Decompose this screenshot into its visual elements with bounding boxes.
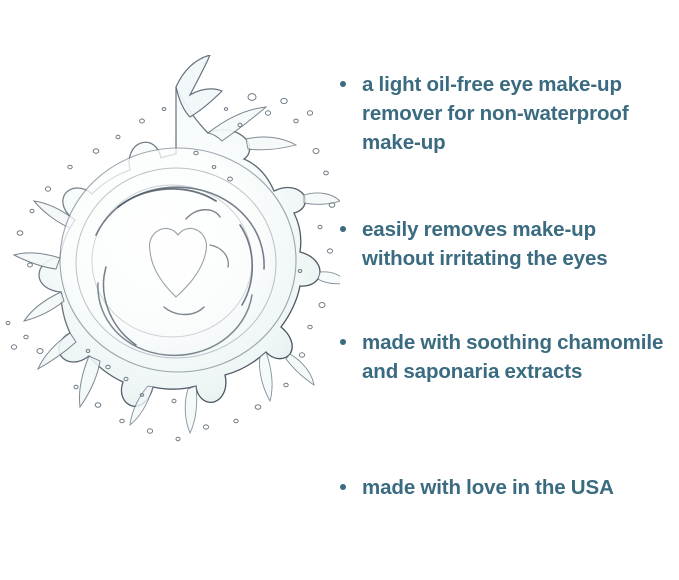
product-benefits-panel: a light oil-free eye make-up remover for…: [0, 0, 679, 580]
bullet-point-icon: [340, 81, 346, 87]
benefit-text: easily removes make-up without irritatin…: [362, 215, 672, 273]
benefit-item: made with soothing chamomile and saponar…: [336, 328, 672, 386]
benefit-item: made with love in the USA: [336, 473, 672, 502]
benefits-list: a light oil-free eye make-up remover for…: [336, 62, 672, 522]
benefit-text: a light oil-free eye make-up remover for…: [362, 70, 672, 157]
bullet-point-icon: [340, 484, 346, 490]
benefit-text: made with love in the USA: [362, 473, 672, 502]
water-splash-image: [0, 55, 340, 530]
splash-inner-swirl: [60, 148, 296, 372]
bullet-point-icon: [340, 339, 346, 345]
benefit-item: easily removes make-up without irritatin…: [336, 215, 672, 273]
bullet-point-icon: [340, 226, 346, 232]
benefit-item: a light oil-free eye make-up remover for…: [336, 70, 672, 157]
benefit-text: made with soothing chamomile and saponar…: [362, 328, 672, 386]
